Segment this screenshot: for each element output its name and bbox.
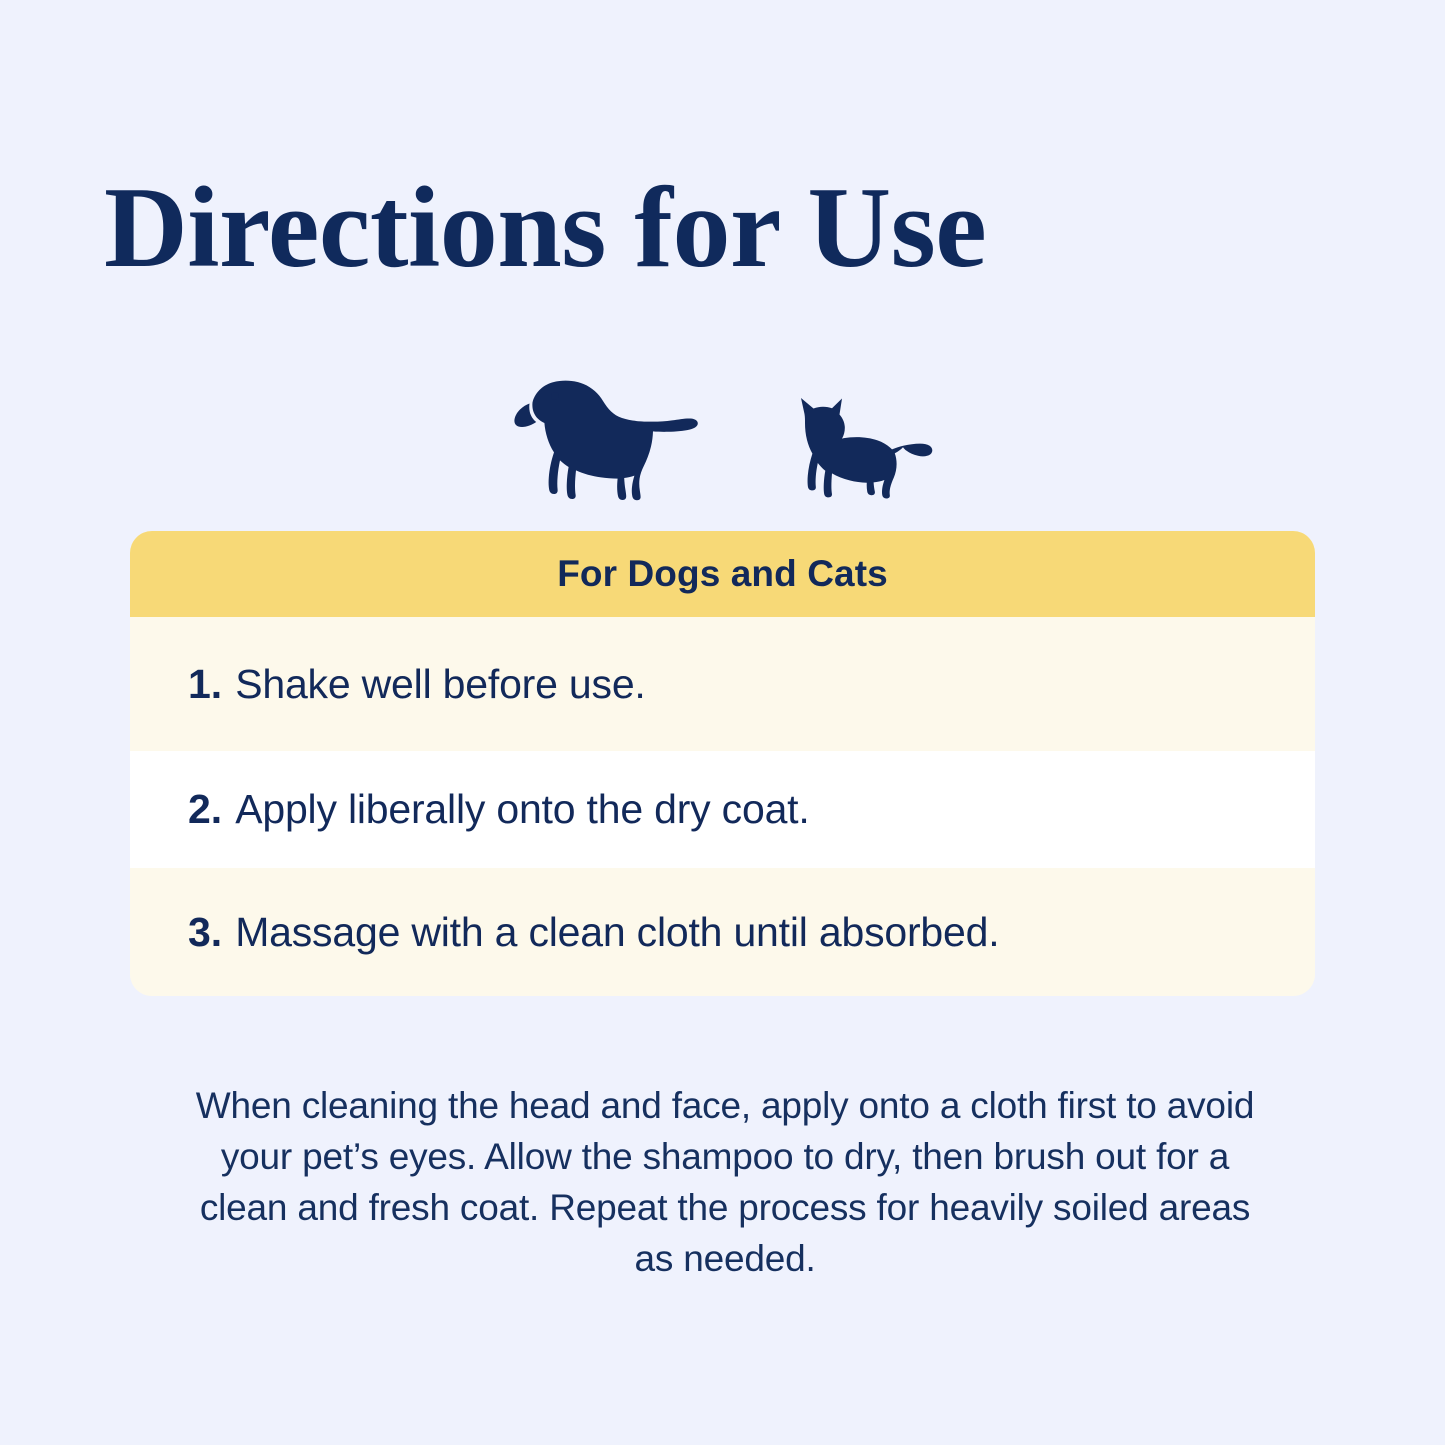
step-number: 1. <box>188 661 222 708</box>
directions-card-header: For Dogs and Cats <box>130 531 1315 617</box>
step-number: 2. <box>188 786 222 833</box>
step-text: Massage with a clean cloth until absorbe… <box>235 909 999 956</box>
cat-silhouette-icon <box>782 392 934 502</box>
dog-silhouette-icon <box>512 376 698 502</box>
directions-card-header-label: For Dogs and Cats <box>557 553 888 595</box>
step-row: 3. Massage with a clean cloth until abso… <box>130 868 1315 996</box>
step-number: 3. <box>188 909 222 956</box>
page-title: Directions for Use <box>104 168 1344 290</box>
animal-silhouette-group <box>0 372 1445 502</box>
directions-card: For Dogs and Cats 1. Shake well before u… <box>130 531 1315 996</box>
step-text: Apply liberally onto the dry coat. <box>235 786 809 833</box>
step-row: 2. Apply liberally onto the dry coat. <box>130 751 1315 868</box>
step-row: 1. Shake well before use. <box>130 617 1315 751</box>
footnote-text: When cleaning the head and face, apply o… <box>190 1080 1260 1284</box>
directions-for-use-panel: Directions for Use For Dogs and Cats 1. … <box>0 0 1445 1445</box>
step-text: Shake well before use. <box>235 661 645 708</box>
